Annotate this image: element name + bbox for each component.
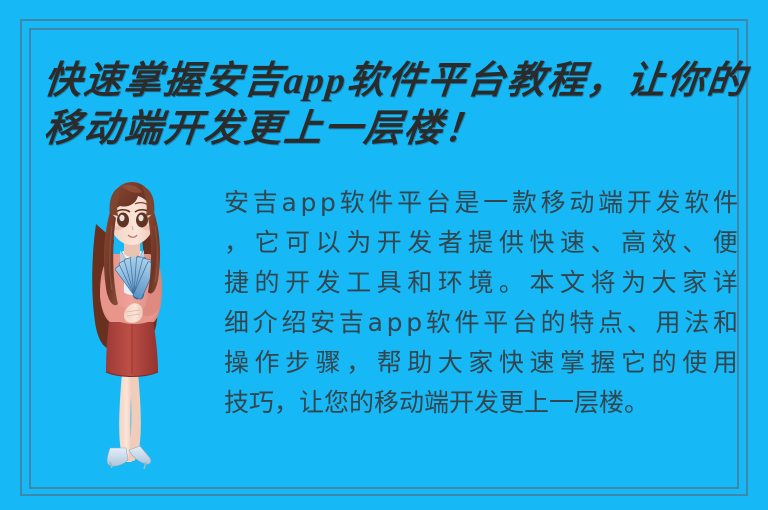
body-char: 供 (499, 223, 524, 263)
body-char: 家 (468, 343, 493, 383)
body-char: 它 (255, 223, 280, 263)
body-line-text: 技巧，让您的移动端开发更上一层楼。 (224, 383, 649, 423)
body-char: 具 (377, 263, 402, 303)
body-char: p (300, 183, 316, 223)
body-char: 平 (397, 183, 422, 223)
anime-girl-svg (66, 176, 198, 476)
body-char: 捷 (224, 263, 249, 303)
body-char: 动 (569, 183, 594, 223)
body-char: 帮 (377, 343, 402, 383)
body-char: 为 (346, 223, 371, 263)
body-char: 款 (512, 183, 537, 223)
body-line: 细介绍安吉app软件平台的特点、用法和 (224, 303, 738, 343)
body-char: 特 (569, 303, 594, 343)
body-char: 可 (285, 223, 310, 263)
body-char: 法 (684, 303, 709, 343)
body-char: 平 (483, 303, 508, 343)
body-char: 绍 (281, 303, 306, 343)
body-char: 是 (455, 183, 480, 223)
body-line: 技巧，让您的移动端开发更上一层楼。 (224, 383, 738, 423)
body-char: 件 (455, 303, 480, 343)
body-char: 的 (652, 343, 677, 383)
body-char: 发 (316, 263, 341, 303)
body-char: 掌 (560, 343, 585, 383)
body-char: 提 (468, 223, 493, 263)
body-char: 件 (368, 183, 393, 223)
body-char: 环 (438, 263, 463, 303)
body-char: 使 (682, 343, 707, 383)
body-char: 境 (468, 263, 493, 303)
body-char: 详 (713, 263, 738, 303)
body-char: 一 (483, 183, 508, 223)
body-char: 工 (346, 263, 371, 303)
body-char: 开 (285, 263, 310, 303)
body-char: 高 (621, 223, 646, 263)
body-char: 和 (407, 263, 432, 303)
body-char: a (368, 303, 383, 343)
body-char: ， (224, 223, 249, 263)
body-char: 便 (713, 223, 738, 263)
body-line: ，它可以为开发者提供快速、高效、便 (224, 223, 738, 263)
title-line-2: 移动端开发更上一层楼！ (41, 105, 736, 153)
body-char: 软 (340, 183, 365, 223)
title-line-1: 快速掌握安吉app软件平台教程，让你的 (41, 57, 736, 105)
body-char: 家 (682, 263, 707, 303)
body-char: a (281, 183, 296, 223)
body-char: 以 (316, 223, 341, 263)
body-char: 者 (438, 223, 463, 263)
illustration-anime-girl (66, 176, 198, 476)
body-char: 步 (285, 343, 310, 383)
body-char: ， (346, 343, 371, 383)
body-char: p (387, 303, 403, 343)
body-char: 开 (377, 223, 402, 263)
body-char: 速 (529, 343, 554, 383)
body-char: 和 (713, 303, 738, 343)
body-char: 发 (407, 223, 432, 263)
body-char: 软 (426, 303, 451, 343)
body-char: 安 (224, 183, 249, 223)
body-char: 吉 (339, 303, 364, 343)
body-char: 开 (627, 183, 652, 223)
body-char: 的 (255, 263, 280, 303)
body-char: 发 (656, 183, 681, 223)
body-char: 它 (621, 343, 646, 383)
body-char: 操 (224, 343, 249, 383)
body-char: 效 (652, 223, 677, 263)
body-char: p (406, 303, 422, 343)
body-char: p (320, 183, 336, 223)
body-char: 骤 (316, 343, 341, 383)
body-char: 介 (253, 303, 278, 343)
body-char: 台 (512, 303, 537, 343)
body-char: 大 (438, 343, 463, 383)
body-char: 点 (598, 303, 623, 343)
body-char: 端 (598, 183, 623, 223)
body-char: 速 (560, 223, 585, 263)
page-title: 快速掌握安吉app软件平台教程，让你的 移动端开发更上一层楼！ (44, 57, 734, 153)
body-line: 安吉app软件平台是一款移动端开发软件 (224, 183, 738, 223)
body-char: 大 (652, 263, 677, 303)
body-char: 作 (255, 343, 280, 383)
body-char: 、 (627, 303, 652, 343)
body-char: 安 (310, 303, 335, 343)
poster-canvas: 快速掌握安吉app软件平台教程，让你的 移动端开发更上一层楼！ (0, 0, 768, 510)
body-char: 为 (621, 263, 646, 303)
body-char: 、 (591, 223, 616, 263)
body-char: 用 (713, 343, 738, 383)
body-copy: 安吉app软件平台是一款移动端开发软件 ，它可以为开发者提供快速、高效、便 捷的… (224, 183, 738, 423)
body-char: 。 (499, 263, 524, 303)
body-char: 移 (541, 183, 566, 223)
body-char: 助 (407, 343, 432, 383)
body-char: 将 (591, 263, 616, 303)
body-char: 的 (541, 303, 566, 343)
body-char: 软 (684, 183, 709, 223)
body-char: 件 (713, 183, 738, 223)
body-char: 、 (682, 223, 707, 263)
body-char: 台 (426, 183, 451, 223)
body-line: 捷的开发工具和环境。本文将为大家详 (224, 263, 738, 303)
body-char: 文 (560, 263, 585, 303)
body-line: 操作步骤，帮助大家快速掌握它的使用 (224, 343, 738, 383)
body-char: 快 (499, 343, 524, 383)
body-char: 细 (224, 303, 249, 343)
body-char: 握 (591, 343, 616, 383)
body-char: 用 (656, 303, 681, 343)
body-char: 快 (529, 223, 554, 263)
body-char: 吉 (253, 183, 278, 223)
body-char: 本 (529, 263, 554, 303)
